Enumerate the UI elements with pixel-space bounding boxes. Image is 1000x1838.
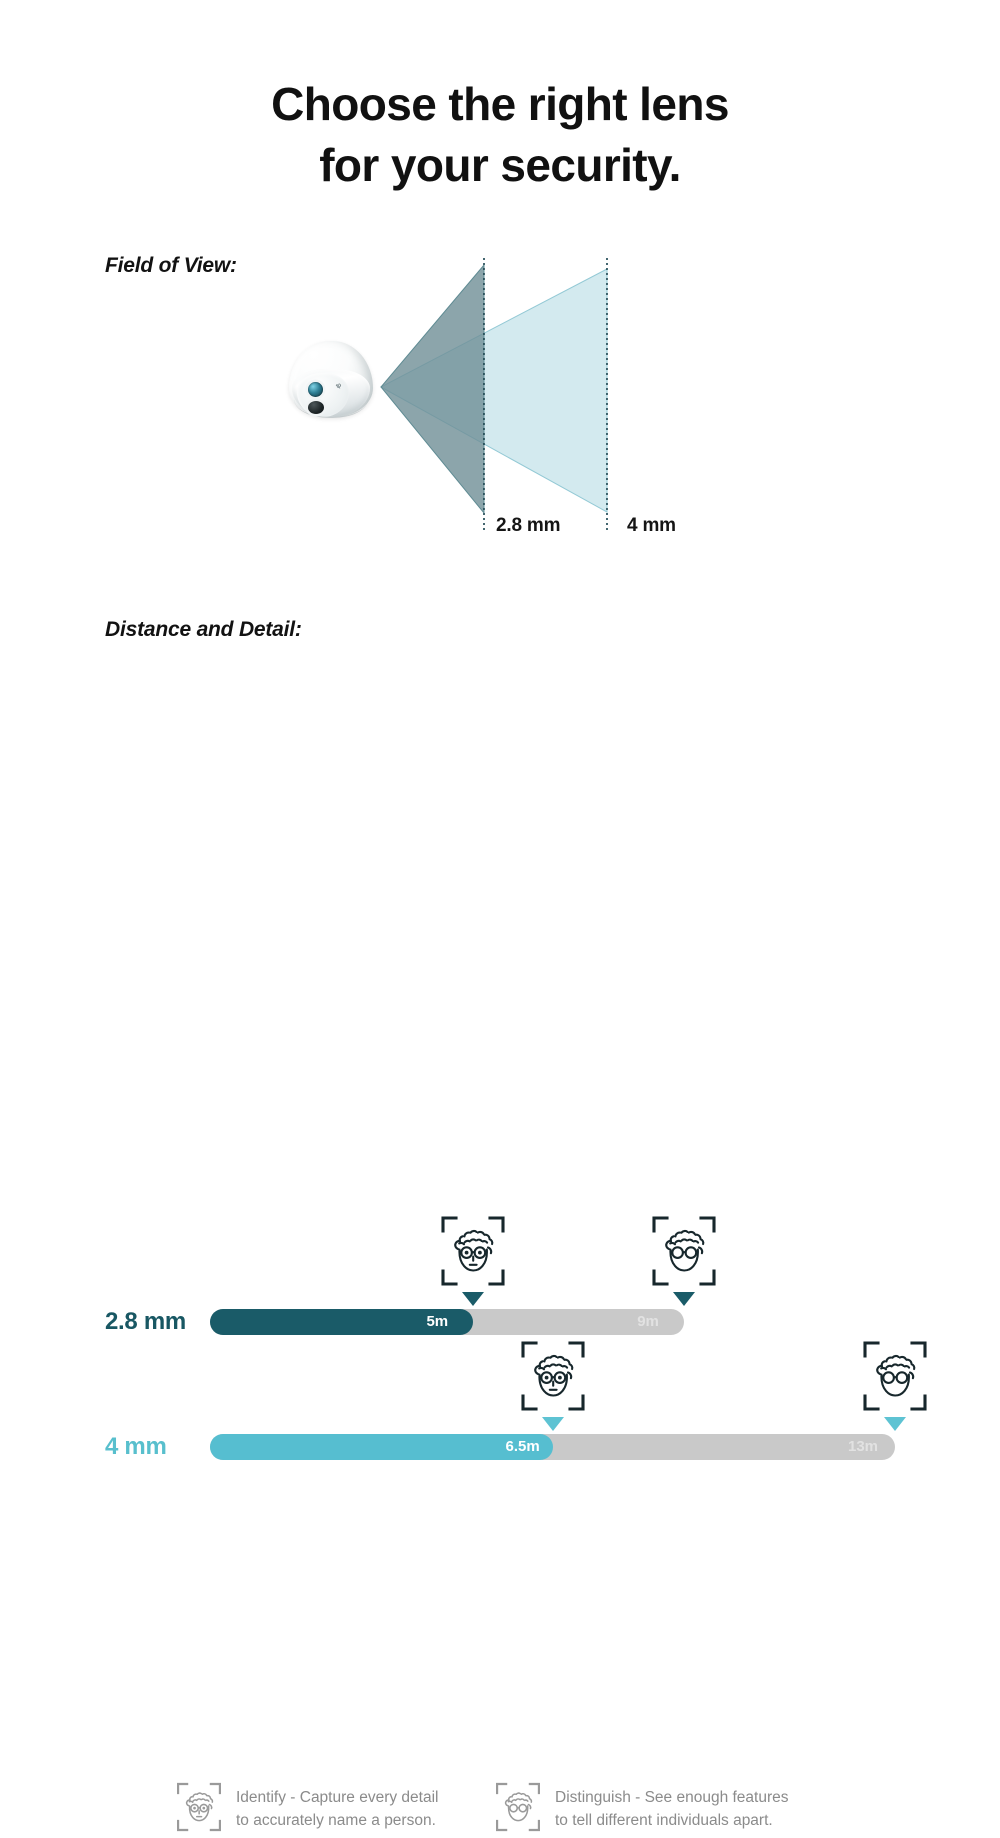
legend-identify-line-2: to accurately name a person.	[236, 1810, 438, 1833]
pointer-identify-2-8mm	[462, 1292, 484, 1306]
legend: Identify - Capture every detail to accur…	[0, 888, 1000, 958]
legend-item-identify: Identify - Capture every detail to accur…	[176, 1781, 438, 1838]
legend-identify-line-1: Identify - Capture every detail	[236, 1789, 438, 1806]
distance-and-detail-chart: 2.8 mm 5m 9m	[0, 600, 1000, 880]
field-of-view-diagram	[0, 240, 1000, 550]
legend-text-identify: Identify - Capture every detail to accur…	[236, 1787, 438, 1832]
distance-value-distinguish-2-8mm: 9m	[637, 1309, 659, 1335]
distance-value-distinguish-4mm: 13m	[848, 1434, 878, 1460]
page-title: Choose the right lens for your security.	[0, 74, 1000, 195]
distance-value-identify-2-8mm: 5m	[426, 1309, 448, 1335]
legend-text-distinguish: Distinguish - See enough features to tel…	[555, 1787, 789, 1832]
camera-ir-led-icon	[308, 401, 324, 414]
distance-fill-identify-4mm	[210, 1434, 553, 1460]
face-distinguish-icon	[862, 1340, 928, 1412]
distance-value-identify-4mm: 6.5m	[506, 1434, 540, 1460]
distance-track-4mm: 6.5m 13m	[210, 1434, 895, 1460]
page-title-line-2: for your security.	[0, 135, 1000, 196]
dome-security-camera-icon: ᵗᵖ	[283, 333, 379, 425]
row-label-2-8mm: 2.8 mm	[105, 1308, 186, 1336]
face-identify-icon	[176, 1781, 222, 1838]
pointer-distinguish-2-8mm	[673, 1292, 695, 1306]
distance-track-2-8mm: 5m 9m	[210, 1309, 684, 1335]
fov-marker-label-4mm: 4 mm	[627, 515, 676, 537]
legend-distinguish-line-2: to tell different individuals apart.	[555, 1810, 789, 1833]
face-distinguish-icon	[495, 1781, 541, 1838]
page-title-line-1: Choose the right lens	[0, 74, 1000, 135]
pointer-identify-4mm	[542, 1417, 564, 1431]
field-of-view-cones	[0, 240, 1000, 550]
face-identify-icon	[440, 1215, 506, 1287]
row-label-4mm: 4 mm	[105, 1433, 167, 1461]
legend-distinguish-line-1: Distinguish - See enough features	[555, 1789, 789, 1806]
camera-lens-icon	[308, 382, 323, 397]
cone-2-8mm	[381, 265, 484, 513]
face-distinguish-icon	[651, 1215, 717, 1287]
pointer-distinguish-4mm	[884, 1417, 906, 1431]
legend-item-distinguish: Distinguish - See enough features to tel…	[495, 1781, 789, 1838]
fov-marker-label-2-8mm: 2.8 mm	[496, 515, 560, 537]
camera-seam	[294, 391, 368, 418]
face-identify-icon	[520, 1340, 586, 1412]
